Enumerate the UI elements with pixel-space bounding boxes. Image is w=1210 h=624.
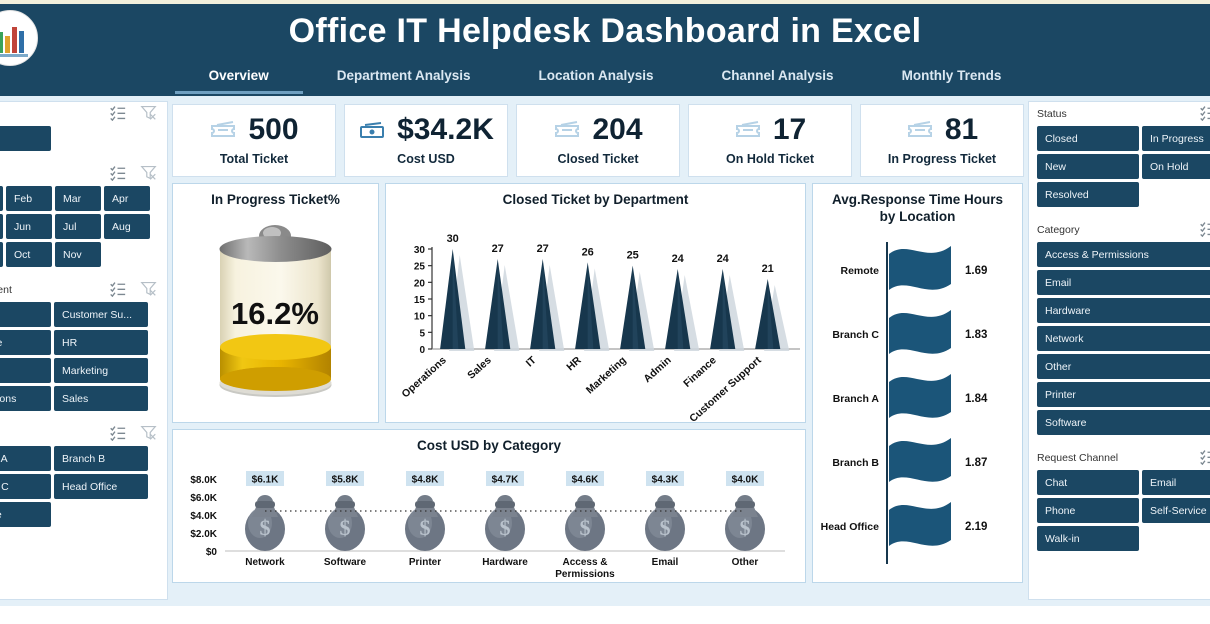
svg-text:Branch C: Branch C <box>832 329 879 341</box>
kpi-total-ticket: 500 Total Ticket <box>172 104 336 177</box>
right-slicer-panel: Status Closed In Progress New On Hold Re… <box>1028 101 1210 600</box>
svg-text:20: 20 <box>414 278 426 289</box>
multiselect-icon[interactable] <box>109 424 126 441</box>
ticket-icon <box>734 119 764 141</box>
slicer-item-category-software[interactable]: Software <box>1037 410 1210 435</box>
svg-text:27: 27 <box>492 243 504 255</box>
app-header: Office IT Helpdesk Dashboard in Excel Ov… <box>0 4 1210 96</box>
svg-text:30: 30 <box>447 233 459 245</box>
slicer-item-department-sales[interactable]: Sales <box>54 386 148 411</box>
kpi-closed-ticket: 204 Closed Ticket <box>516 104 680 177</box>
svg-text:Printer: Printer <box>409 557 441 568</box>
slicer-item-month-sep[interactable]: Sep <box>0 242 3 267</box>
slicer-item-category-printer[interactable]: Printer <box>1037 382 1210 407</box>
svg-text:10: 10 <box>414 312 426 323</box>
svg-text:$4.8K: $4.8K <box>412 474 439 485</box>
kpi-row: 500 Total Ticket $34.2K Cost USD <box>172 104 1024 177</box>
tab-overview[interactable]: Overview <box>175 64 303 94</box>
slicer-item-location-branch-c[interactable]: Branch C <box>0 474 51 499</box>
slicer-item-month-mar[interactable]: Mar <box>55 186 101 211</box>
money-icon <box>358 119 388 141</box>
slicer-item-month-oct[interactable]: Oct <box>6 242 52 267</box>
left-slicer-panel: Year 2025 Month Jan Feb <box>0 101 168 600</box>
svg-text:$6.1K: $6.1K <box>252 474 279 485</box>
slicer-item-category-access-permissions[interactable]: Access & Permissions <box>1037 242 1210 267</box>
tab-monthly-trends[interactable]: Monthly Trends <box>868 64 1036 94</box>
multiselect-icon[interactable] <box>1199 448 1210 465</box>
svg-text:16.2%: 16.2% <box>231 296 319 331</box>
slicer-item-month-apr[interactable]: Apr <box>104 186 150 211</box>
svg-text:30: 30 <box>414 245 426 256</box>
svg-text:1.87: 1.87 <box>965 457 987 469</box>
slicer-status: Status Closed In Progress New On Hold Re… <box>1029 102 1210 211</box>
clear-filter-icon[interactable] <box>140 280 157 297</box>
slicer-request-channel-title: Request Channel <box>1037 452 1118 464</box>
slicer-item-status-resolved[interactable]: Resolved <box>1037 182 1139 207</box>
slicer-month: Month Jan Feb Mar Apr May Jun Jul Aug Se… <box>0 162 167 271</box>
kpi-cost-usd-value: $34.2K <box>397 115 494 145</box>
slicer-request-channel: Request Channel Chat Email Phone Self-Se… <box>1029 446 1210 555</box>
chart-title-closed-by-dept: Closed Ticket by Department <box>386 184 805 209</box>
page-title: Office IT Helpdesk Dashboard in Excel <box>0 12 1210 51</box>
tab-bar: Overview Department Analysis Location An… <box>0 64 1210 94</box>
multiselect-icon[interactable] <box>1199 220 1210 237</box>
kpi-cost-usd-label: Cost USD <box>397 152 455 166</box>
svg-text:$: $ <box>580 515 591 540</box>
money-bag-chart-graphic: $0$2.0K$4.0K$6.0K$8.0K$$6.1KNetwork$$5.8… <box>173 455 805 583</box>
kpi-on-hold-ticket: 17 On Hold Ticket <box>688 104 852 177</box>
slicer-item-month-jan[interactable]: Jan <box>0 186 3 211</box>
multiselect-icon[interactable] <box>109 164 126 181</box>
svg-text:$4.7K: $4.7K <box>492 474 519 485</box>
svg-text:Branch B: Branch B <box>832 457 879 469</box>
svg-text:$4.0K: $4.0K <box>732 474 759 485</box>
svg-text:15: 15 <box>414 295 426 306</box>
svg-text:Access &: Access & <box>562 557 607 568</box>
svg-text:Finance: Finance <box>681 354 719 390</box>
svg-text:Sales: Sales <box>465 354 494 381</box>
slicer-item-channel-chat[interactable]: Chat <box>1037 470 1139 495</box>
slicer-item-location-branch-a[interactable]: Branch A <box>0 446 51 471</box>
slicer-item-month-nov[interactable]: Nov <box>55 242 101 267</box>
tab-department-analysis[interactable]: Department Analysis <box>303 64 505 94</box>
slicer-item-month-may[interactable]: May <box>0 214 3 239</box>
kpi-in-progress-ticket: 81 In Progress Ticket <box>860 104 1024 177</box>
svg-text:5: 5 <box>419 328 425 339</box>
clear-filter-icon[interactable] <box>140 164 157 181</box>
svg-text:24: 24 <box>717 253 730 265</box>
svg-text:2.19: 2.19 <box>965 521 987 533</box>
svg-text:HR: HR <box>564 354 584 373</box>
kpi-on-hold-ticket-label: On Hold Ticket <box>726 152 814 166</box>
svg-text:$5.8K: $5.8K <box>332 474 359 485</box>
svg-text:$: $ <box>740 515 751 540</box>
svg-text:1.84: 1.84 <box>965 393 988 405</box>
svg-text:Network: Network <box>245 557 285 568</box>
svg-text:21: 21 <box>762 263 774 275</box>
clear-filter-icon[interactable] <box>140 104 157 121</box>
slicer-item-department-it[interactable]: IT <box>0 358 51 383</box>
svg-text:$4.0K: $4.0K <box>190 511 217 522</box>
slicer-category: Category Access & Permissions Email Hard… <box>1029 218 1210 439</box>
svg-text:Email: Email <box>652 557 679 568</box>
svg-text:25: 25 <box>627 250 639 262</box>
battery-gauge-graphic: 16.2% <box>173 209 378 417</box>
svg-text:Other: Other <box>732 557 759 568</box>
svg-text:1.83: 1.83 <box>965 329 987 341</box>
slicer-item-status-on-hold[interactable]: On Hold <box>1142 154 1210 179</box>
chart-closed-ticket-by-department: Closed Ticket by Department 051015202530… <box>385 183 806 423</box>
slicer-item-month-aug[interactable]: Aug <box>104 214 150 239</box>
slicer-item-status-closed[interactable]: Closed <box>1037 126 1139 151</box>
slicer-department: Department Admin Customer Su... Finance … <box>0 278 167 415</box>
svg-text:$4.6K: $4.6K <box>572 474 599 485</box>
slicer-item-department-hr[interactable]: HR <box>54 330 148 355</box>
svg-text:Software: Software <box>324 557 367 568</box>
svg-text:24: 24 <box>672 253 685 265</box>
svg-text:$4.3K: $4.3K <box>652 474 679 485</box>
chart-title-avg-response-line1: Avg.Response Time Hours <box>832 192 1003 207</box>
svg-text:1.69: 1.69 <box>965 265 987 277</box>
svg-text:Head Office: Head Office <box>821 521 880 533</box>
chart-cost-usd-by-category: Cost USD by Category $0$2.0K$4.0K$6.0K$8… <box>172 429 806 583</box>
slicer-item-month-jul[interactable]: Jul <box>55 214 101 239</box>
svg-text:$6.0K: $6.0K <box>190 493 217 504</box>
multiselect-icon[interactable] <box>109 104 126 121</box>
slicer-item-category-hardware[interactable]: Hardware <box>1037 298 1210 323</box>
svg-text:Branch A: Branch A <box>833 393 880 405</box>
kpi-total-ticket-label: Total Ticket <box>220 152 288 166</box>
ticket-icon <box>906 119 936 141</box>
slicer-item-location-head-office[interactable]: Head Office <box>54 474 148 499</box>
slicer-item-channel-self-service-portal[interactable]: Self-Service Po... <box>1142 498 1210 523</box>
svg-text:$: $ <box>260 515 271 540</box>
svg-text:$: $ <box>420 515 431 540</box>
tab-channel-analysis[interactable]: Channel Analysis <box>688 64 868 94</box>
slicer-status-title: Status <box>1037 108 1067 120</box>
tab-location-analysis[interactable]: Location Analysis <box>505 64 688 94</box>
chart-title-avg-response: Avg.Response Time Hours by Location <box>813 184 1022 226</box>
slicer-item-department-finance[interactable]: Finance <box>0 330 51 355</box>
chart-title-cost-by-category: Cost USD by Category <box>173 430 805 455</box>
svg-text:25: 25 <box>414 262 426 273</box>
slicer-department-title: Department <box>0 284 12 296</box>
slicer-item-status-in-progress[interactable]: In Progress <box>1142 126 1210 151</box>
slicer-item-channel-phone[interactable]: Phone <box>1037 498 1139 523</box>
slicer-item-location-branch-b[interactable]: Branch B <box>54 446 148 471</box>
slicer-item-department-operations[interactable]: Operations <box>0 386 51 411</box>
svg-text:$0: $0 <box>206 547 218 558</box>
svg-text:Marketing: Marketing <box>584 354 629 396</box>
chart-title-in-progress: In Progress Ticket% <box>173 184 378 209</box>
dashboard-root: Office IT Helpdesk Dashboard in Excel Ov… <box>0 0 1210 624</box>
slicer-item-category-network[interactable]: Network <box>1037 326 1210 351</box>
svg-text:$: $ <box>660 515 671 540</box>
kpi-closed-ticket-value: 204 <box>592 115 642 145</box>
slicer-item-category-email[interactable]: Email <box>1037 270 1210 295</box>
svg-text:Admin: Admin <box>641 354 673 385</box>
slicer-item-department-admin[interactable]: Admin <box>0 302 51 327</box>
slicer-item-location-remote[interactable]: Remote <box>0 502 51 527</box>
svg-text:Permissions: Permissions <box>555 569 615 580</box>
svg-text:0: 0 <box>419 345 425 356</box>
svg-text:$: $ <box>500 515 511 540</box>
svg-text:$8.0K: $8.0K <box>190 475 217 486</box>
cone-chart-graphic: 05101520253030Operations27Sales27IT26HR2… <box>386 209 805 423</box>
kpi-total-ticket-value: 500 <box>248 115 298 145</box>
multiselect-icon[interactable] <box>1199 104 1210 121</box>
kpi-on-hold-ticket-value: 17 <box>773 115 806 145</box>
slicer-item-month-feb[interactable]: Feb <box>6 186 52 211</box>
svg-text:IT: IT <box>524 354 539 370</box>
slicer-item-category-other[interactable]: Other <box>1037 354 1210 379</box>
kpi-cost-usd: $34.2K Cost USD <box>344 104 508 177</box>
slicer-item-month-jun[interactable]: Jun <box>6 214 52 239</box>
kpi-in-progress-ticket-value: 81 <box>945 115 978 145</box>
multiselect-icon[interactable] <box>109 280 126 297</box>
svg-text:$: $ <box>340 515 351 540</box>
svg-text:Hardware: Hardware <box>482 557 528 568</box>
svg-text:Operations: Operations <box>399 354 448 400</box>
slicer-location: Location Branch A Branch B Branch C Head… <box>0 422 167 531</box>
slicer-item-department-customer-support[interactable]: Customer Su... <box>54 302 148 327</box>
svg-text:27: 27 <box>537 243 549 255</box>
kpi-in-progress-ticket-label: In Progress Ticket <box>888 152 996 166</box>
slicer-year: Year 2025 <box>0 102 167 155</box>
ticket-icon <box>553 119 583 141</box>
flag-chart-graphic: Remote1.69Branch C1.83Branch A1.84Branch… <box>813 226 1022 586</box>
svg-text:$2.0K: $2.0K <box>190 529 217 540</box>
slicer-item-department-marketing[interactable]: Marketing <box>54 358 148 383</box>
chart-in-progress-ticket-percent: In Progress Ticket% <box>172 183 379 423</box>
slicer-item-year-2025[interactable]: 2025 <box>0 126 51 151</box>
kpi-closed-ticket-label: Closed Ticket <box>557 152 638 166</box>
svg-text:26: 26 <box>582 246 594 258</box>
svg-text:Remote: Remote <box>840 265 879 277</box>
slicer-category-title: Category <box>1037 224 1080 236</box>
slicer-item-channel-email[interactable]: Email <box>1142 470 1210 495</box>
slicer-item-channel-walk-in[interactable]: Walk-in <box>1037 526 1139 551</box>
slicer-item-status-new[interactable]: New <box>1037 154 1139 179</box>
chart-title-avg-response-line2: by Location <box>880 209 956 224</box>
ticket-icon <box>209 119 239 141</box>
clear-filter-icon[interactable] <box>140 424 157 441</box>
chart-avg-response-time-by-location: Avg.Response Time Hours by Location Remo… <box>812 183 1023 583</box>
